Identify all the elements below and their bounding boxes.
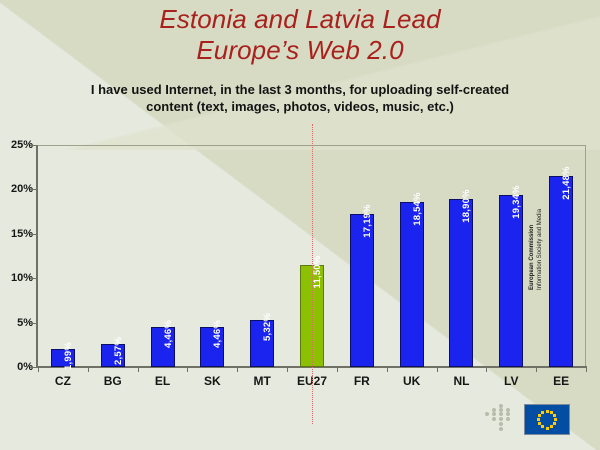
- eu-flag-star: [546, 410, 549, 413]
- logo-dot: [499, 417, 503, 421]
- y-axis-tick-mark: [30, 323, 37, 324]
- bar-slot: 1,99%: [38, 145, 88, 367]
- bar-value-label: 17,19%: [362, 205, 373, 238]
- x-axis-tick-mark: [437, 367, 438, 372]
- bar-value-label: 21,48%: [561, 167, 572, 200]
- x-axis-tick-mark: [237, 367, 238, 372]
- eu27-reference-line: [312, 124, 313, 424]
- x-axis-category-uk: UK: [403, 374, 420, 388]
- bar-slot: 17,19%: [337, 145, 387, 367]
- bar-value-label: 5,32%: [262, 313, 273, 341]
- bar-ee[interactable]: 21,48%: [549, 176, 573, 367]
- bar-value-label: 18,54%: [412, 193, 423, 226]
- y-axis-tick-mark: [30, 234, 37, 235]
- x-axis-tick-mark: [337, 367, 338, 372]
- x-axis-tick-mark: [187, 367, 188, 372]
- bar-value-label: 11,50%: [312, 255, 323, 288]
- logo-dot: [492, 417, 496, 421]
- x-axis-tick-mark: [88, 367, 89, 372]
- y-axis-tick-label: 15%: [0, 228, 33, 240]
- eu-flag-star: [541, 425, 544, 428]
- logo-dot: [492, 412, 496, 416]
- bar-uk[interactable]: 18,54%: [400, 202, 424, 367]
- bar-el[interactable]: 4,46%: [151, 327, 175, 367]
- x-axis-category-sk: SK: [204, 374, 221, 388]
- bar-cz[interactable]: 1,99%: [51, 349, 75, 367]
- bar-slot: 18,54%: [387, 145, 437, 367]
- eu-flag-star: [550, 425, 553, 428]
- x-axis-category-fr: FR: [354, 374, 370, 388]
- x-axis-tick-mark: [138, 367, 139, 372]
- slide-canvas: Estonia and Latvia Lead Europe’s Web 2.0…: [0, 0, 600, 450]
- y-axis-tick-label: 10%: [0, 272, 33, 284]
- y-axis-tick-label: 0%: [0, 361, 33, 373]
- attribution-text: European Commission Information Society …: [528, 209, 544, 290]
- y-axis-tick-label: 25%: [0, 139, 33, 151]
- y-axis-tick-mark: [30, 189, 37, 190]
- y-axis-tick-label: 20%: [0, 183, 33, 195]
- bar-bg[interactable]: 2,57%: [101, 344, 125, 367]
- attribution-line-1: European Commission: [528, 209, 536, 290]
- y-axis-tick-mark: [30, 145, 37, 146]
- bar-sk[interactable]: 4,46%: [200, 327, 224, 367]
- bar-slot: 4,46%: [138, 145, 188, 367]
- eu-flag-star: [541, 411, 544, 414]
- attribution-line-2: Information Society and Media: [536, 209, 544, 290]
- bar-value-label: 19,34%: [511, 186, 522, 219]
- logo-dot: [506, 417, 510, 421]
- eu-flag-star: [538, 422, 541, 425]
- slide-title: Estonia and Latvia Lead Europe’s Web 2.0: [0, 4, 600, 66]
- x-axis-category-cz: CZ: [55, 374, 71, 388]
- x-axis-tick-mark: [536, 367, 537, 372]
- bar-slot: 18,90%: [437, 145, 487, 367]
- bar-slot: 5,32%: [237, 145, 287, 367]
- logo-dot: [499, 412, 503, 416]
- logo-dot: [485, 412, 489, 416]
- bar-mt[interactable]: 5,32%: [250, 320, 274, 367]
- dot-arrow-logo-icon: [485, 404, 517, 434]
- bar-value-label: 2,57%: [113, 337, 124, 365]
- x-axis-tick-mark: [38, 367, 39, 372]
- eu-flag-star: [553, 414, 556, 417]
- x-axis-category-lv: LV: [504, 374, 518, 388]
- logo-dot: [506, 412, 510, 416]
- y-axis-tick-label: 5%: [0, 317, 33, 329]
- bar-nl[interactable]: 18,90%: [449, 199, 473, 367]
- eu-flag-star: [538, 414, 541, 417]
- x-axis-tick-mark: [586, 367, 587, 372]
- slide-subtitle: I have used Internet, in the last 3 mont…: [50, 81, 550, 115]
- x-axis-category-nl: NL: [453, 374, 469, 388]
- bar-slot: 2,57%: [88, 145, 138, 367]
- bar-value-label: 18,90%: [461, 189, 472, 222]
- x-axis-category-el: EL: [155, 374, 170, 388]
- bar-fr[interactable]: 17,19%: [350, 214, 374, 367]
- x-axis-category-ee: EE: [553, 374, 569, 388]
- x-axis-category-mt: MT: [254, 374, 271, 388]
- x-axis-tick-mark: [387, 367, 388, 372]
- eu-flag-star: [554, 418, 557, 421]
- bar-value-label: 4,46%: [212, 320, 223, 348]
- x-axis-tick-mark: [486, 367, 487, 372]
- european-union-flag-icon: [524, 404, 570, 435]
- y-axis-tick-mark: [30, 278, 37, 279]
- x-axis-category-bg: BG: [104, 374, 122, 388]
- bar-value-label: 4,46%: [163, 320, 174, 348]
- bar-lv[interactable]: 19,34%: [499, 195, 523, 367]
- bar-value-label: 1,99%: [63, 342, 74, 370]
- x-axis-tick-mark: [287, 367, 288, 372]
- bar-slot: 4,46%: [187, 145, 237, 367]
- eu-flag-star: [546, 427, 549, 430]
- y-axis-tick-mark: [30, 367, 37, 368]
- eu-flag-star: [537, 418, 540, 421]
- eu-flag-star: [553, 422, 556, 425]
- logo-dot: [499, 422, 503, 426]
- logo-dot: [499, 427, 503, 431]
